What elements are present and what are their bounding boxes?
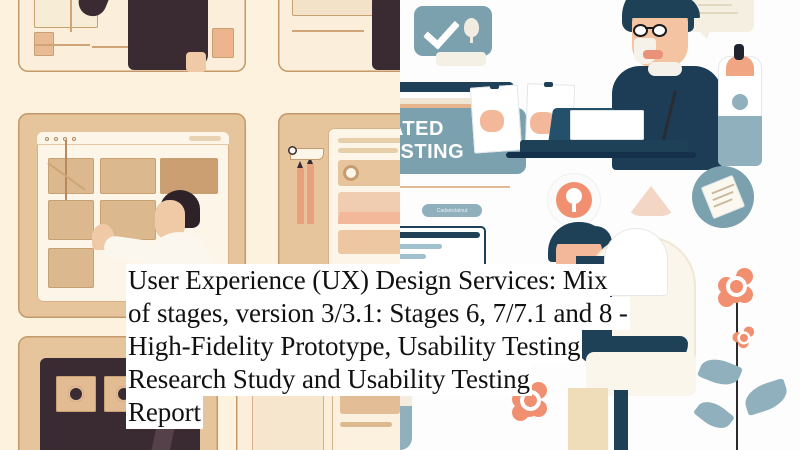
leaf-icon — [741, 378, 791, 416]
wireframe-block — [48, 200, 94, 240]
title-line-5: Report — [126, 396, 203, 429]
flower-icon-small — [732, 326, 753, 347]
pin-stem — [572, 198, 576, 212]
wireframe-block — [48, 248, 94, 288]
flower-core — [726, 276, 747, 297]
clipboard-clip — [490, 84, 499, 89]
avatar-icon — [343, 165, 359, 181]
badge-shadow — [436, 52, 486, 66]
ui-row — [400, 244, 442, 249]
pencil-icon — [297, 168, 304, 224]
ui-row — [400, 254, 426, 259]
cone-shape-icon — [628, 186, 674, 216]
glasses-icon — [633, 24, 648, 37]
person-hair-front — [552, 226, 612, 244]
ui-card — [338, 230, 400, 254]
person-dark-figure — [372, 0, 400, 70]
glasses-icon — [652, 24, 667, 37]
bottle-cap — [734, 44, 744, 60]
browser-dot — [45, 137, 49, 141]
balloon-icon — [464, 18, 479, 37]
app-icon — [68, 386, 84, 402]
screenshot-root: RATED TESTING Cadanictalnut — [0, 0, 800, 450]
article-title-overlay: User Experience (UX) Design Services: Mi… — [126, 264, 726, 429]
bottle-body — [718, 116, 762, 166]
guide-line — [70, 0, 72, 32]
wireframe-block — [48, 158, 94, 194]
bottle-logo — [732, 94, 748, 110]
wireframe-block — [212, 28, 234, 58]
browser-address-pill — [189, 136, 221, 141]
paper-sheet — [570, 110, 644, 140]
glasses-bridge — [645, 27, 653, 29]
guide-line — [65, 140, 67, 200]
title-line-4: Research Study and Usability Testing — [126, 363, 532, 396]
clip-icon — [288, 146, 297, 155]
pencil-icon — [307, 164, 314, 224]
person-hair-front — [626, 0, 700, 18]
person-hand — [480, 110, 504, 132]
bubble-text-line — [698, 4, 732, 6]
person-hand — [186, 52, 206, 72]
guide-line — [34, 44, 90, 46]
ui-row — [338, 138, 400, 143]
browser-dot — [54, 137, 58, 141]
ui-row — [400, 232, 480, 238]
ui-row — [338, 148, 398, 153]
wireframe-block — [160, 158, 218, 194]
mini-label-chip: Cadanictalnut — [422, 204, 482, 217]
laptop-edge — [506, 152, 696, 158]
flower-core — [737, 331, 750, 344]
water-bottle-icon — [718, 56, 762, 166]
ui-divider — [400, 186, 510, 188]
bubble-text-line — [698, 12, 738, 14]
title-line-3: High-Fidelity Prototype, Usability Testi… — [126, 330, 582, 363]
title-line-2: of stages, version 3/3.1: Stages 6, 7/7.… — [126, 297, 630, 330]
checkmark-glyph — [423, 12, 460, 50]
check-badge-icon — [414, 6, 492, 56]
guide-line — [292, 30, 364, 32]
person-mouth — [643, 50, 663, 59]
browser-dot — [72, 137, 76, 141]
person-collar — [648, 62, 682, 76]
clipboard-clip — [544, 82, 553, 87]
wireframe-block — [100, 158, 156, 194]
title-line-1: User Experience (UX) Design Services: Mi… — [126, 264, 610, 297]
